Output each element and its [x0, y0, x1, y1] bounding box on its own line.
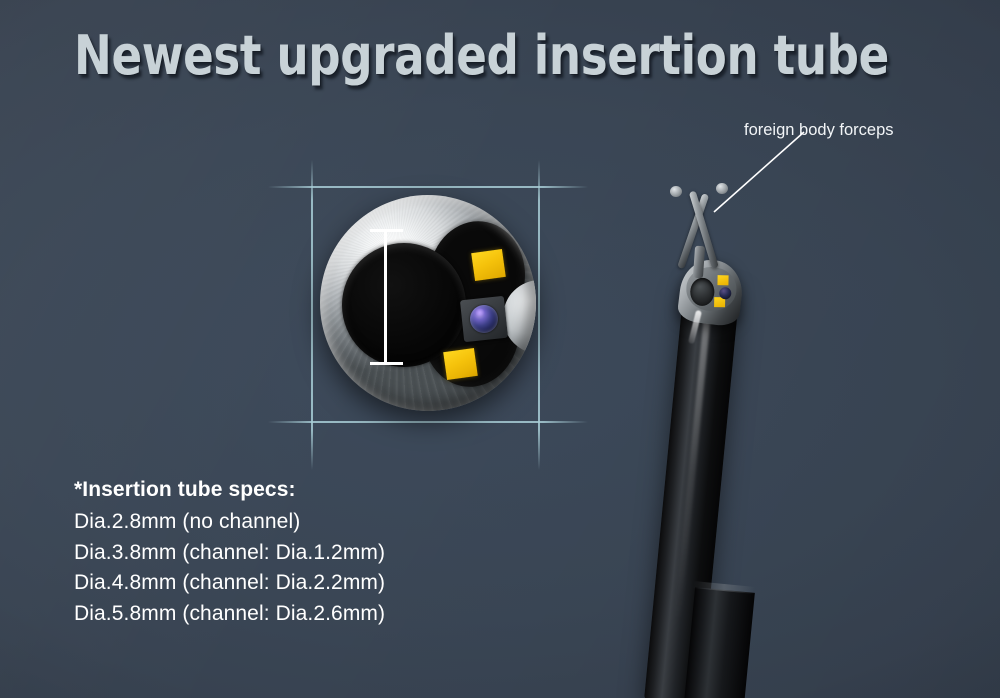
spec-item: Dia.5.8mm (channel: Dia.2.6mm)	[74, 599, 385, 630]
forceps-tip-left	[670, 186, 682, 197]
spec-item: Dia.3.8mm (channel: Dia.1.2mm)	[74, 538, 385, 569]
product-banner: Newest upgraded insertion tube foreign b…	[0, 0, 1000, 698]
spec-item: Dia.2.8mm (no channel)	[74, 507, 385, 538]
endoscope-insertion-tube	[640, 160, 860, 698]
page-title: Newest upgraded insertion tube	[74, 27, 889, 84]
channel-bore	[690, 278, 714, 306]
forceps-tip-right	[716, 183, 728, 194]
insertion-tube-tip-cross-section	[320, 195, 536, 411]
rim-highlight	[320, 195, 536, 411]
camera-lens-icon	[719, 287, 731, 299]
led-light-icon	[717, 275, 728, 285]
specs-heading: *Insertion tube specs:	[74, 478, 385, 502]
specs-block: *Insertion tube specs: Dia.2.8mm (no cha…	[74, 478, 385, 630]
spec-item: Dia.4.8mm (channel: Dia.2.2mm)	[74, 568, 385, 599]
flexible-tube-lower	[682, 587, 755, 698]
